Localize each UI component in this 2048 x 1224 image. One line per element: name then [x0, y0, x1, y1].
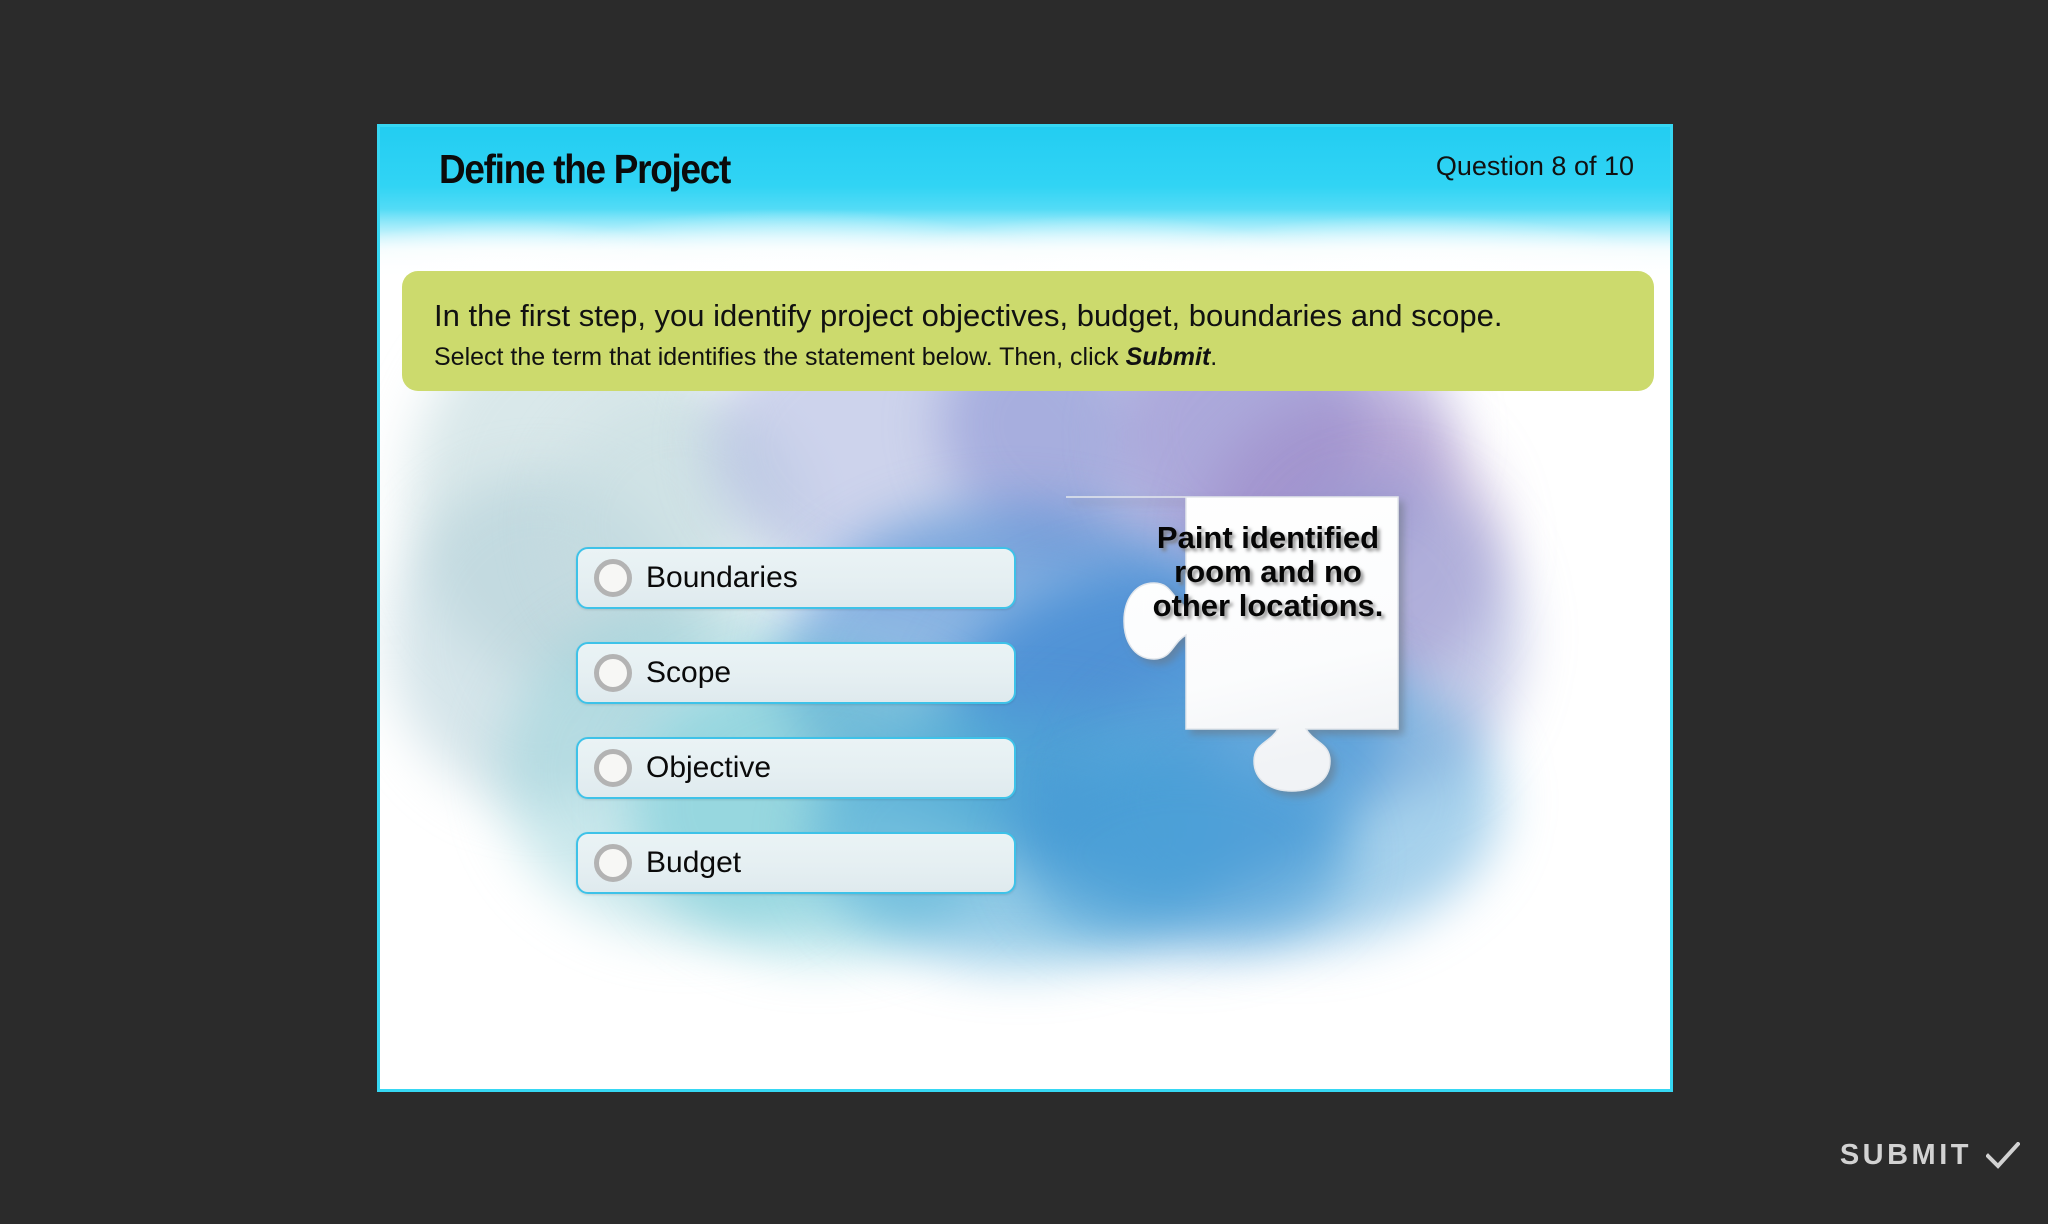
radio-button-icon[interactable] — [594, 559, 632, 597]
option-row-3[interactable]: Budget — [576, 832, 1016, 894]
instruction-line-2-suffix: . — [1210, 343, 1217, 371]
check-icon — [1986, 1142, 2020, 1170]
puzzle-piece-icon — [1062, 493, 1410, 793]
cloud-band — [380, 209, 1670, 279]
answer-options-list: Boundaries Scope Objective Budget — [576, 547, 1016, 927]
instruction-line-2-prefix: Select the term that identifies the stat… — [434, 343, 1126, 371]
radio-button-icon[interactable] — [594, 654, 632, 692]
option-row-0[interactable]: Boundaries — [576, 547, 1016, 609]
quiz-slide: Define the Project Question 8 of 10 Boun… — [377, 124, 1673, 1092]
submit-label: SUBMIT — [1840, 1139, 1972, 1172]
instruction-line-2: Select the term that identifies the stat… — [434, 343, 1654, 372]
option-label: Scope — [646, 656, 731, 690]
question-counter: Question 8 of 10 — [1436, 151, 1634, 182]
option-label: Boundaries — [646, 561, 798, 595]
instruction-line-1: In the first step, you identify project … — [434, 298, 1654, 335]
option-label: Budget — [646, 846, 741, 880]
watercolor-stage: Boundaries Scope Objective Budget — [380, 275, 1670, 1089]
submit-emphasis: Submit — [1126, 343, 1211, 371]
submit-button[interactable]: SUBMIT — [1840, 1139, 2020, 1172]
option-label: Objective — [646, 751, 771, 785]
slide-footer-strip — [380, 1089, 1670, 1092]
radio-button-icon[interactable] — [594, 749, 632, 787]
option-row-2[interactable]: Objective — [576, 737, 1016, 799]
page-title: Define the Project — [439, 146, 730, 193]
slide-header: Define the Project Question 8 of 10 — [380, 127, 1670, 275]
puzzle-piece-card: Paint identified room and no other locat… — [1062, 493, 1410, 793]
option-row-1[interactable]: Scope — [576, 642, 1016, 704]
radio-button-icon[interactable] — [594, 844, 632, 882]
instruction-banner: In the first step, you identify project … — [402, 271, 1654, 391]
